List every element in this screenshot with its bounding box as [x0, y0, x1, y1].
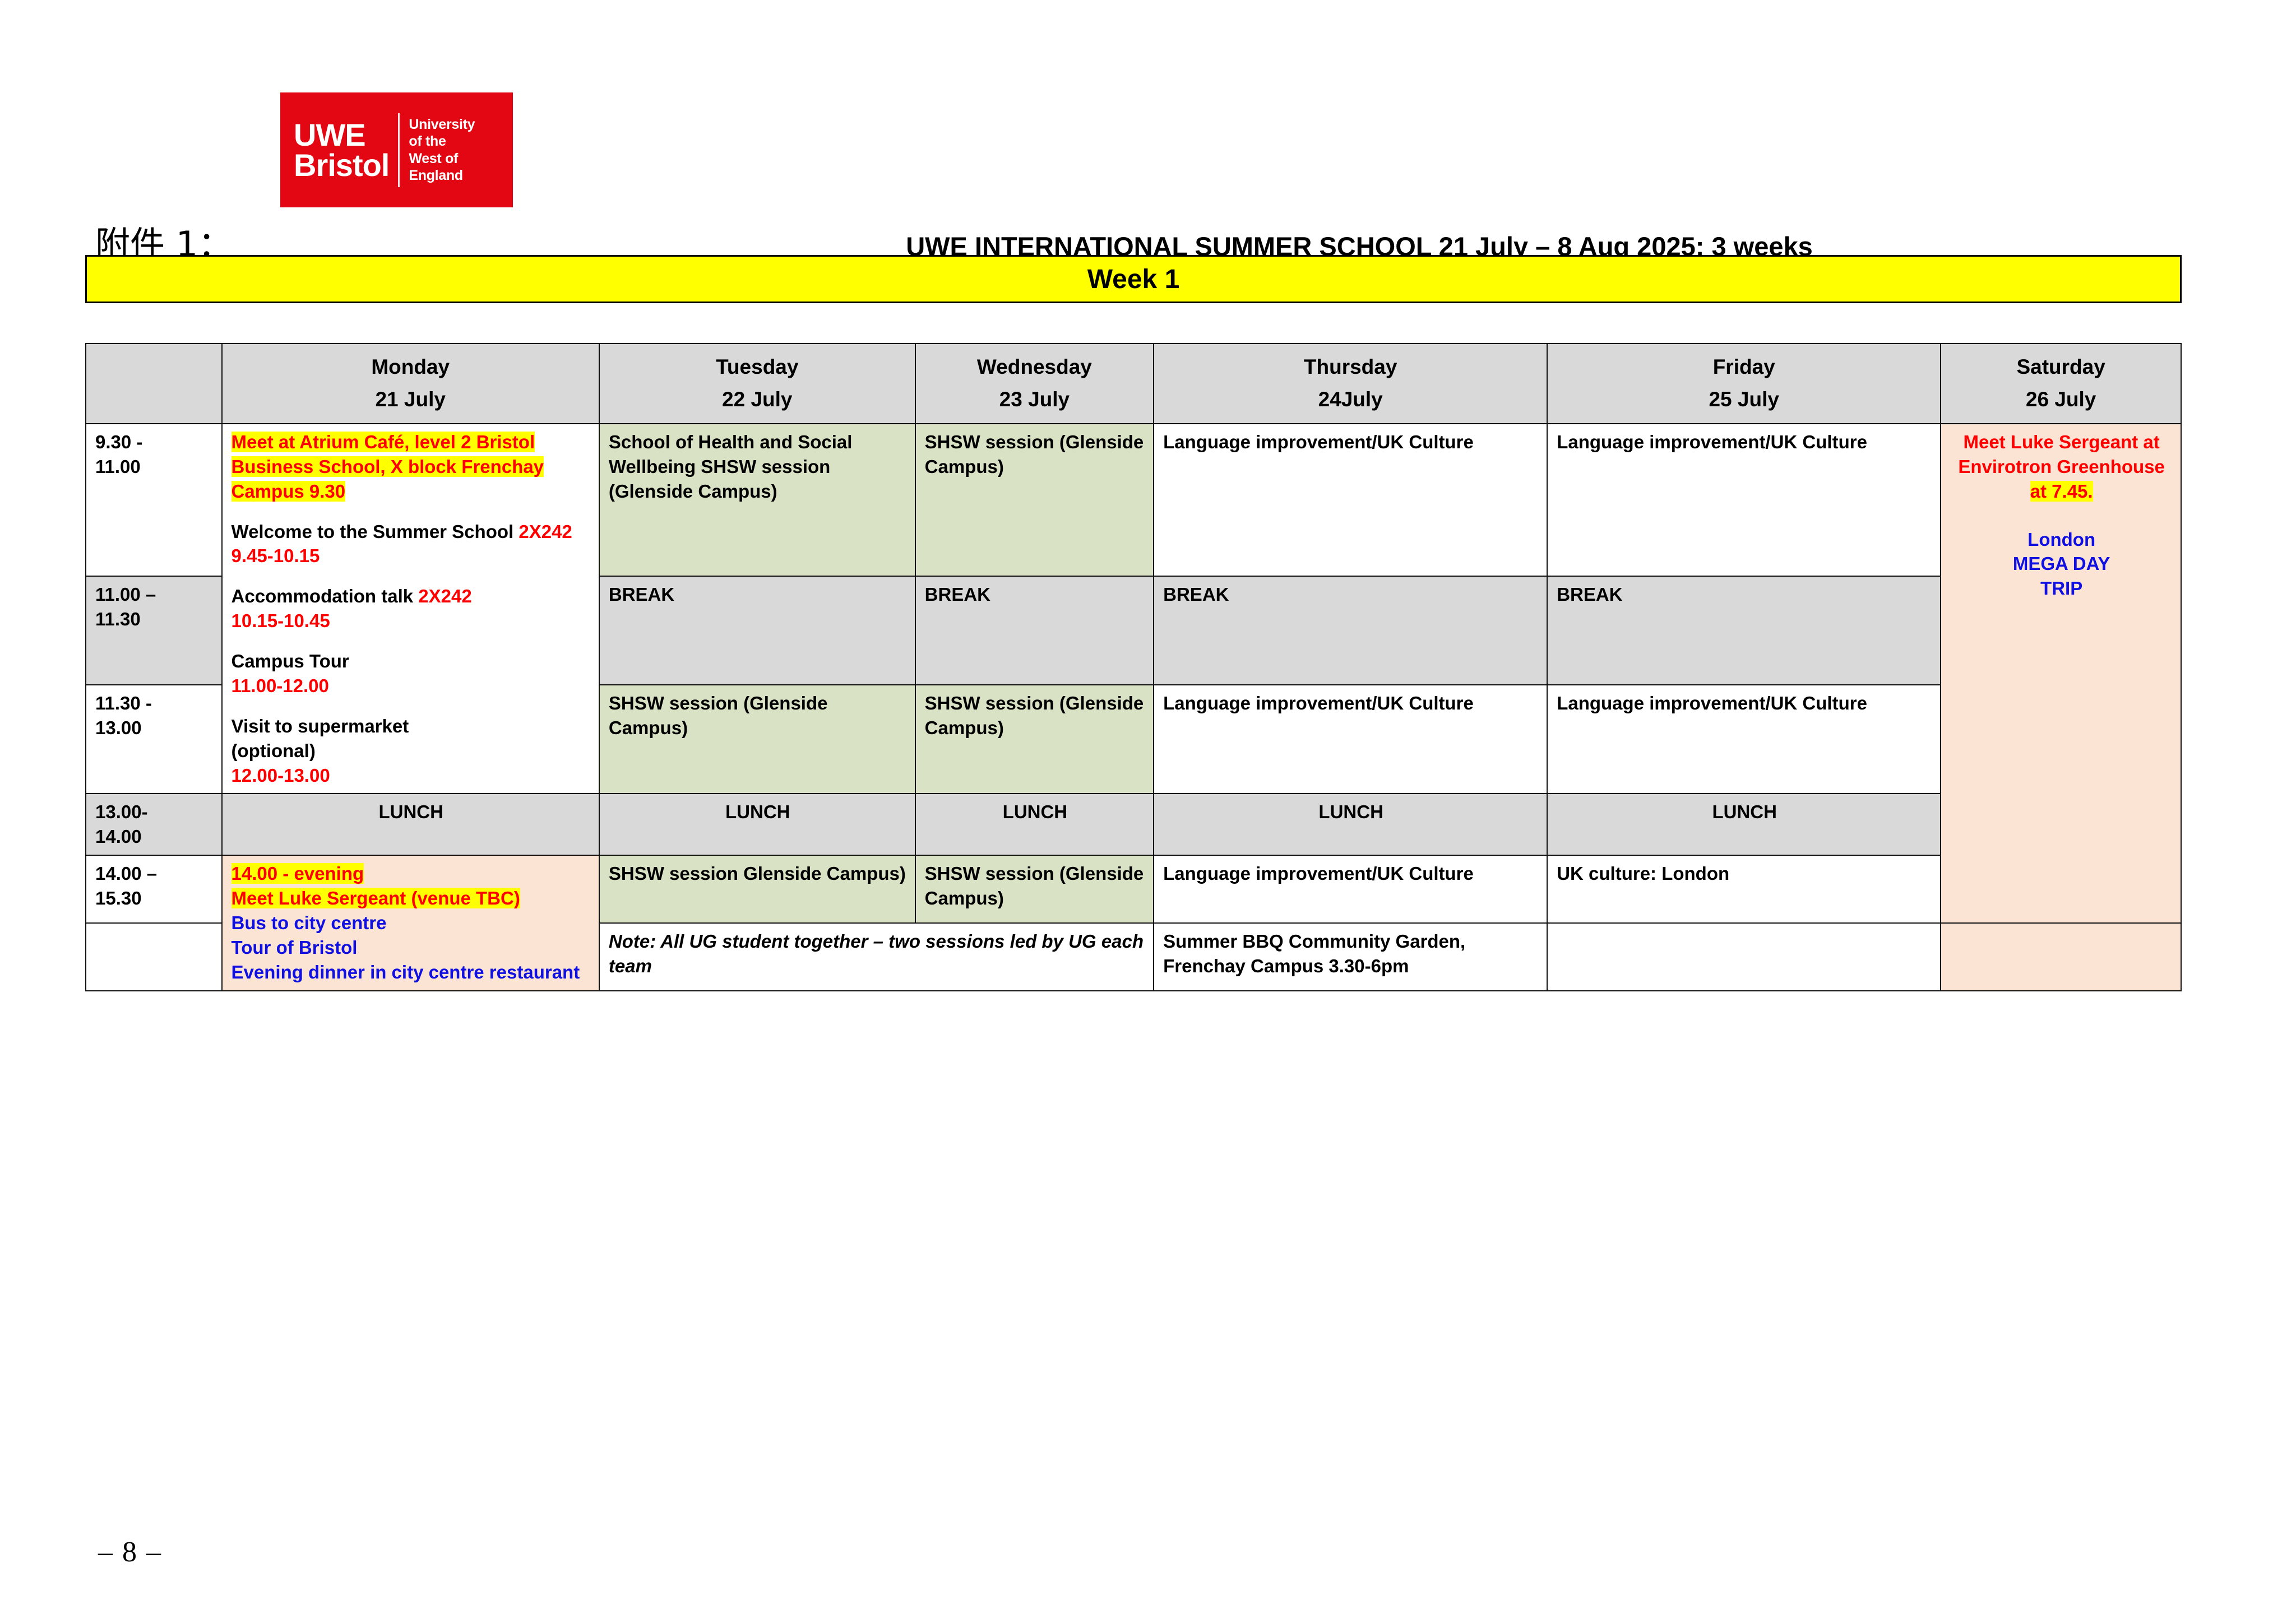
timetable-row-lunch: 13.00- 14.00 LUNCH LUNCH LUNCH LUNCH LUN…: [86, 794, 2181, 855]
cell-monday-morning: Meet at Atrium Café, level 2 Bristol Bus…: [222, 424, 599, 794]
saturday-meet-highlight-text: at 7.45.: [2030, 481, 2093, 502]
logo-tagline-line2: of the: [409, 133, 475, 150]
page-number: – 8 –: [98, 1536, 162, 1569]
time-end-1100: 11.00: [95, 455, 214, 479]
time-start-1400: 14.00 –: [95, 861, 214, 886]
time-start-1300: 13.00-: [95, 800, 214, 824]
cell-wednesday-morning: SHSW session (Glenside Campus): [915, 424, 1154, 576]
time-cell-1300: 13.00- 14.00: [86, 794, 222, 855]
day-name-friday: Friday: [1551, 351, 1937, 383]
cell-thursday-bbq: Summer BBQ Community Garden, Frenchay Ca…: [1154, 923, 1547, 991]
monday-accommodation: Accommodation talk 2X242: [232, 584, 591, 609]
header-cell-friday: Friday 25 July: [1547, 344, 1941, 424]
saturday-trip-line2: MEGA DAY: [1950, 551, 2173, 576]
time-cell-1130: 11.30 - 13.00: [86, 685, 222, 794]
time-end-1400: 14.00: [95, 824, 214, 849]
timetable-header-row: Monday 21 July Tuesday 22 July Wednesday…: [86, 344, 2181, 424]
time-end-1130: 11.30: [95, 607, 214, 632]
cell-wednesday-lunch: LUNCH: [915, 794, 1154, 855]
cell-monday-afternoon: 14.00 - evening Meet Luke Sergeant (venu…: [222, 855, 599, 990]
monday-afternoon-blue1: Bus to city centre: [232, 911, 591, 935]
monday-afternoon-hl2-text: Meet Luke Sergeant (venue TBC): [232, 888, 520, 908]
monday-welcome-label: Welcome to the Summer School: [232, 521, 519, 542]
header-cell-tuesday: Tuesday 22 July: [599, 344, 915, 424]
time-start-0930: 9.30 -: [95, 430, 214, 455]
cell-tuesday-note: Note: All UG student together – two sess…: [599, 923, 1154, 991]
document-page: 附件 1： UWE Bristol University of the West…: [0, 0, 2296, 1623]
monday-afternoon-blue3: Evening dinner in city centre restaurant: [232, 960, 591, 985]
logo-tagline: University of the West of England: [409, 116, 475, 184]
monday-campus-tour: Campus Tour: [232, 649, 591, 674]
time-end-1530: 15.30: [95, 886, 214, 911]
cell-thursday-break: BREAK: [1154, 576, 1547, 685]
cell-wednesday-midday: SHSW session (Glenside Campus): [915, 685, 1154, 794]
monday-accommodation-label: Accommodation talk: [232, 586, 419, 606]
monday-supermarket-time: 12.00-13.00: [232, 763, 591, 788]
timetable: Monday 21 July Tuesday 22 July Wednesday…: [85, 343, 2182, 991]
header-cell-monday: Monday 21 July: [222, 344, 599, 424]
timetable-row-0930: 9.30 - 11.00 Meet at Atrium Café, level …: [86, 424, 2181, 576]
cell-tuesday-morning: School of Health and Social Wellbeing SH…: [599, 424, 915, 576]
day-date-thursday: 24July: [1158, 383, 1543, 416]
monday-welcome: Welcome to the Summer School 2X242: [232, 520, 591, 544]
saturday-trip-line1: London: [1950, 527, 2173, 552]
day-date-saturday: 26 July: [1945, 383, 2177, 416]
day-name-wednesday: Wednesday: [919, 351, 1150, 383]
cell-friday-lunch: LUNCH: [1547, 794, 1941, 855]
timetable-row-1400: 14.00 – 15.30 14.00 - evening Meet Luke …: [86, 855, 2181, 923]
cell-thursday-midday: Language improvement/UK Culture: [1154, 685, 1547, 794]
uwe-bristol-logo: UWE Bristol University of the West of En…: [280, 92, 513, 207]
time-cell-notes: [86, 923, 222, 991]
cell-tuesday-break: BREAK: [599, 576, 915, 685]
saturday-trip-line3: TRIP: [1950, 576, 2173, 601]
time-end-1300: 13.00: [95, 716, 214, 740]
time-cell-0930: 9.30 - 11.00: [86, 424, 222, 576]
day-date-friday: 25 July: [1551, 383, 1937, 416]
monday-afternoon-hl1: 14.00 - evening: [232, 861, 591, 886]
cell-friday-midday: Language improvement/UK Culture: [1547, 685, 1941, 794]
monday-accommodation-room: 2X242: [418, 586, 471, 606]
logo-wordmark-line1: UWE: [294, 120, 389, 150]
cell-thursday-afternoon: Language improvement/UK Culture: [1154, 855, 1547, 923]
cell-friday-break: BREAK: [1547, 576, 1941, 685]
header-cell-thursday: Thursday 24July: [1154, 344, 1547, 424]
cell-thursday-morning: Language improvement/UK Culture: [1154, 424, 1547, 576]
monday-accommodation-time: 10.15-10.45: [232, 609, 591, 633]
monday-supermarket-line1: Visit to supermarket: [232, 714, 591, 739]
logo-tagline-line1: University: [409, 116, 475, 133]
logo-tagline-line4: England: [409, 167, 475, 184]
cell-tuesday-midday: SHSW session (Glenside Campus): [599, 685, 915, 794]
monday-welcome-room: 2X242: [519, 521, 572, 542]
logo-tagline-line3: West of: [409, 150, 475, 168]
header-cell-time: [86, 344, 222, 424]
saturday-meet-line: Meet Luke Sergeant at Envirotron Greenho…: [1950, 430, 2173, 479]
monday-afternoon-hl2: Meet Luke Sergeant (venue TBC): [232, 886, 591, 911]
logo-divider-rule: [398, 113, 400, 187]
monday-campus-tour-time: 11.00-12.00: [232, 674, 591, 698]
cell-friday-notes: [1547, 923, 1941, 991]
cell-tuesday-afternoon: SHSW session Glenside Campus): [599, 855, 915, 923]
cell-saturday: Meet Luke Sergeant at Envirotron Greenho…: [1941, 424, 2181, 923]
day-name-monday: Monday: [226, 351, 595, 383]
day-date-monday: 21 July: [226, 383, 595, 416]
monday-afternoon-hl1-text: 14.00 - evening: [232, 863, 364, 884]
monday-welcome-time: 9.45-10.15: [232, 544, 591, 568]
time-cell-1100: 11.00 – 11.30: [86, 576, 222, 685]
cell-wednesday-afternoon: SHSW session (Glenside Campus): [915, 855, 1154, 923]
day-date-tuesday: 22 July: [603, 383, 911, 416]
day-name-saturday: Saturday: [1945, 351, 2177, 383]
logo-wordmark-line2: Bristol: [294, 150, 389, 180]
time-cell-1400: 14.00 – 15.30: [86, 855, 222, 923]
document-header: 附件 1： UWE Bristol University of the West…: [84, 67, 2209, 252]
day-name-tuesday: Tuesday: [603, 351, 911, 383]
cell-saturday-notes: [1941, 923, 2181, 991]
monday-supermarket-line2: (optional): [232, 739, 591, 763]
monday-meet-highlight: Meet at Atrium Café, level 2 Bristol Bus…: [232, 430, 591, 504]
cell-wednesday-break: BREAK: [915, 576, 1154, 685]
header-cell-wednesday: Wednesday 23 July: [915, 344, 1154, 424]
cell-friday-afternoon: UK culture: London: [1547, 855, 1941, 923]
monday-afternoon-blue2: Tour of Bristol: [232, 935, 591, 960]
monday-meet-highlight-text: Meet at Atrium Café, level 2 Bristol Bus…: [232, 432, 544, 502]
cell-friday-morning: Language improvement/UK Culture: [1547, 424, 1941, 576]
header-cell-saturday: Saturday 26 July: [1941, 344, 2181, 424]
cell-thursday-lunch: LUNCH: [1154, 794, 1547, 855]
day-date-wednesday: 23 July: [919, 383, 1150, 416]
saturday-meet-highlight: at 7.45.: [1950, 479, 2173, 504]
week-banner: Week 1: [85, 255, 2182, 303]
cell-tuesday-lunch: LUNCH: [599, 794, 915, 855]
logo-wordmark: UWE Bristol: [294, 120, 389, 179]
time-start-1130: 11.30 -: [95, 691, 214, 716]
cell-monday-lunch: LUNCH: [222, 794, 599, 855]
day-name-thursday: Thursday: [1158, 351, 1543, 383]
time-start-1100: 11.00 –: [95, 582, 214, 607]
